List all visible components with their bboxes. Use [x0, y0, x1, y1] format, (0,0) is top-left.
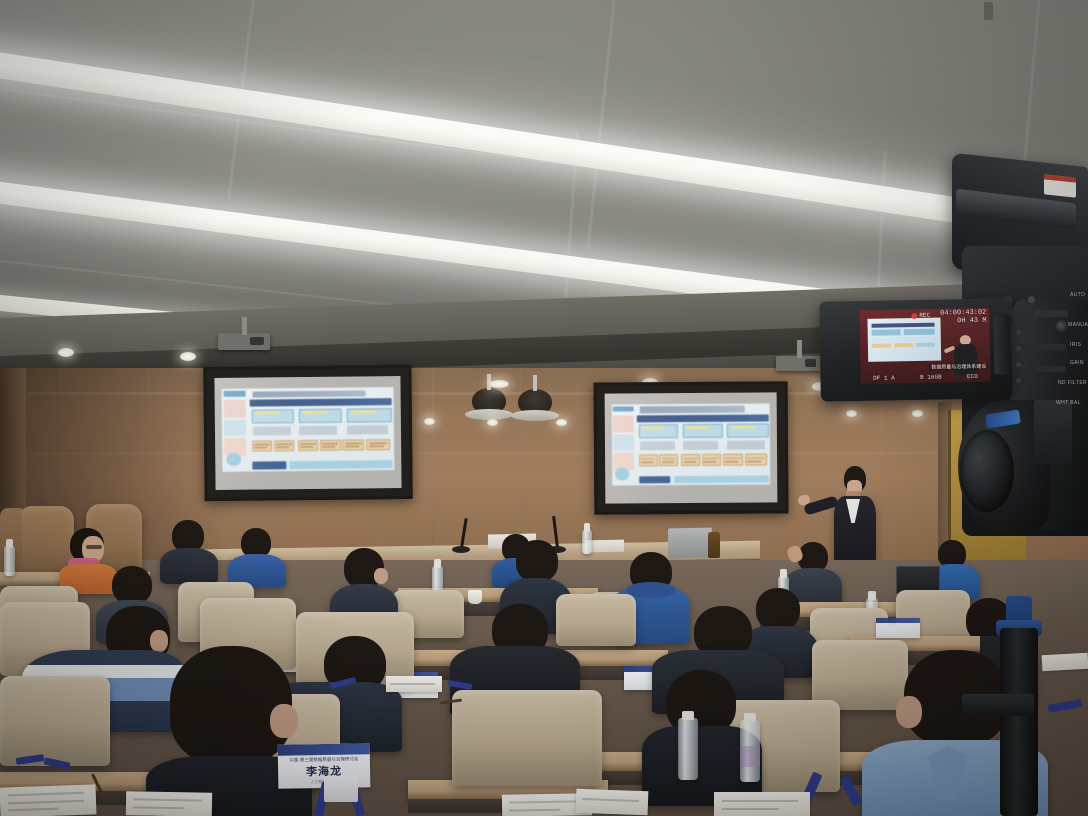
ceiling-dome-speaker	[518, 389, 552, 415]
slide-sub-box	[274, 440, 295, 452]
slide-sub-box	[659, 455, 678, 467]
person-head	[112, 566, 152, 604]
person-head	[170, 646, 292, 764]
document-line	[8, 800, 85, 805]
camera-mode-dial[interactable]	[1055, 320, 1069, 334]
slide-footer-right	[674, 475, 769, 483]
record-indicator: REC	[911, 312, 930, 319]
slide-content-box	[727, 424, 768, 438]
slide-body-text	[253, 426, 291, 436]
presentation-slide	[612, 403, 771, 485]
projector-lens	[250, 337, 264, 346]
feed-slide-box	[872, 337, 935, 342]
status-mode: ECO	[967, 373, 978, 380]
screen-surface	[214, 376, 401, 490]
slide-logo-mark	[615, 467, 629, 480]
camera-focus-ring[interactable]	[960, 430, 1014, 512]
feed-caption-overlay: 数据质量与治理体系建设	[929, 363, 988, 371]
slide-body-text	[299, 426, 337, 436]
recessed-downlight	[180, 352, 196, 361]
record-label: REC	[919, 312, 930, 319]
slide-content-box	[683, 424, 723, 438]
status-format: DF 1 A	[873, 374, 895, 381]
slide-sub-box	[342, 439, 364, 451]
hoodie-hood	[626, 582, 676, 598]
person-ear	[270, 704, 298, 738]
camera-button[interactable]	[1016, 346, 1021, 351]
camera-switch[interactable]	[1036, 344, 1066, 350]
slide-footer-left	[639, 476, 671, 484]
camera-label-gain: GAIN	[1070, 360, 1084, 366]
slide-title-text	[640, 406, 744, 413]
camera-button[interactable]	[1016, 330, 1021, 335]
camera-tripod-column[interactable]	[1000, 628, 1038, 816]
slide-sub-box	[320, 439, 341, 451]
lcd-hinge	[993, 314, 1010, 374]
camera-button[interactable]	[1016, 378, 1021, 383]
slide-content-box	[299, 409, 342, 424]
document-line	[509, 808, 559, 811]
document-line	[509, 801, 581, 804]
document-line	[722, 808, 780, 810]
slide-content-box	[347, 408, 392, 423]
live-video-feed: REC 04:00:43:02 0H 43 M 数据质量与治理体系建设 DF 1…	[859, 308, 990, 384]
ceiling-dome-speaker	[472, 388, 506, 414]
badge-holder	[324, 776, 358, 802]
slide-sub-box	[723, 454, 744, 466]
slide-header-band	[637, 414, 768, 422]
camera-label-wht-bal: WHT BAL	[1056, 400, 1081, 406]
handout-document	[576, 789, 649, 815]
handout-document	[1042, 653, 1088, 671]
projector-mount	[242, 317, 247, 335]
slide-sub-box	[298, 439, 319, 451]
feed-slide-box	[904, 329, 935, 335]
lcd-status-bar: DF 1 A B 16GB ECO	[860, 373, 990, 382]
slide-title-text	[253, 390, 366, 398]
feed-projection-screen	[867, 317, 941, 361]
person-head	[516, 540, 558, 582]
paper-cup	[468, 590, 482, 604]
feed-slide-band	[872, 323, 935, 328]
slide-footer-left	[252, 461, 286, 469]
slide-body-text	[727, 441, 765, 450]
slide-sub-box	[745, 454, 767, 466]
slide-header-band	[249, 398, 391, 407]
eyeglasses	[86, 545, 102, 549]
slide-sub-box	[682, 454, 701, 466]
document-line	[7, 792, 84, 797]
camera-switch[interactable]	[1034, 310, 1068, 317]
ceiling-fitting	[984, 2, 993, 20]
slide-body-text	[640, 442, 675, 451]
camera-label-auto: AUTO	[1070, 292, 1085, 298]
camera-side-panel	[1034, 400, 1072, 464]
camera-lcd-viewfinder[interactable]: REC 04:00:43:02 0H 43 M 数据质量与治理体系建设 DF 1…	[819, 298, 1013, 401]
feed-slide-box	[894, 343, 913, 348]
feed-slide-box	[872, 329, 901, 335]
slide-footer-right	[289, 460, 392, 469]
handout-document	[386, 676, 442, 692]
slide-left-block	[613, 415, 634, 433]
recessed-downlight	[556, 419, 567, 426]
projector-lens	[805, 359, 817, 367]
slide-left-block	[224, 419, 246, 436]
camera-warning-sticker	[1044, 174, 1076, 197]
handout-document	[714, 792, 810, 816]
document-line	[133, 806, 185, 809]
slide-logo-mark	[226, 453, 242, 466]
recessed-downlight	[487, 419, 498, 426]
slide-body-text	[347, 425, 388, 435]
document-line	[133, 799, 202, 802]
water-bottle	[740, 720, 760, 782]
person-ear	[374, 568, 388, 584]
person-torso	[160, 548, 218, 584]
screen-surface	[605, 392, 778, 503]
audience-member	[160, 520, 218, 582]
ceiling-projector	[776, 356, 822, 371]
audience-chair[interactable]	[452, 690, 602, 786]
audience-member-foreground	[146, 646, 312, 816]
document-line	[8, 808, 58, 812]
audience-member	[228, 528, 286, 586]
recording-duration: 0H 43 M	[940, 318, 986, 327]
water-bottle	[4, 546, 15, 576]
document-line	[582, 798, 640, 802]
water-bottle	[678, 718, 698, 780]
ceiling-projector	[218, 333, 270, 350]
record-dot-icon	[911, 312, 917, 318]
conference-room-photo: 中国·第三届数据质量与治理研讨会 李海龙 人工智能事业部	[0, 0, 1088, 816]
slide-tag	[224, 390, 246, 396]
document-line	[722, 800, 799, 802]
slide-left-block	[613, 435, 634, 451]
beverage-bottle	[708, 532, 720, 558]
presentation-slide	[222, 387, 394, 472]
speaker-mount	[533, 375, 537, 391]
document-line	[390, 683, 435, 685]
timecode-display: 04:00:43:02 0H 43 M	[940, 310, 986, 326]
slide-sub-box	[702, 454, 721, 466]
slide-sub-box	[252, 440, 273, 452]
water-bottle	[582, 530, 592, 554]
recessed-downlight	[58, 348, 74, 357]
recessed-downlight	[424, 418, 435, 425]
handout-document	[126, 791, 212, 816]
microphone-base	[452, 546, 470, 553]
slide-content-box	[639, 424, 679, 438]
name-card-header-bar	[876, 618, 920, 623]
slide-body-text	[683, 441, 718, 450]
delegate-name-card	[876, 618, 920, 638]
camera-button[interactable]	[1016, 362, 1021, 367]
camera-indicator-lamp	[1028, 296, 1035, 303]
feed-slide-box	[872, 343, 891, 348]
audience-chair[interactable]	[0, 676, 110, 766]
person-ear	[896, 696, 922, 728]
camera-label-manual: MANUAL	[1068, 322, 1088, 328]
slide-sub-box	[639, 455, 658, 467]
handout-document	[0, 784, 96, 816]
recessed-downlight	[846, 410, 857, 417]
projection-screen-right	[594, 381, 789, 514]
slide-content-box	[251, 409, 294, 424]
projection-screen-left	[203, 365, 412, 501]
lcd-screen: REC 04:00:43:02 0H 43 M 数据质量与治理体系建设 DF 1…	[859, 308, 990, 384]
slide-tag	[613, 406, 634, 412]
slide-left-block	[224, 400, 246, 418]
projector-mount	[797, 340, 802, 358]
camera-switch[interactable]	[1036, 366, 1066, 372]
tripod-head-plate	[962, 694, 1034, 716]
recessed-downlight	[912, 410, 923, 417]
feed-slide-box	[916, 342, 935, 347]
status-media: B 16GB	[920, 374, 942, 381]
slide-sub-box	[366, 439, 390, 451]
name-card-header-bar	[278, 743, 370, 756]
camera-label-iris: IRIS	[1070, 342, 1081, 348]
camera-label-nd-filter: ND FILTER	[1058, 380, 1087, 386]
recessed-downlight	[489, 380, 509, 388]
